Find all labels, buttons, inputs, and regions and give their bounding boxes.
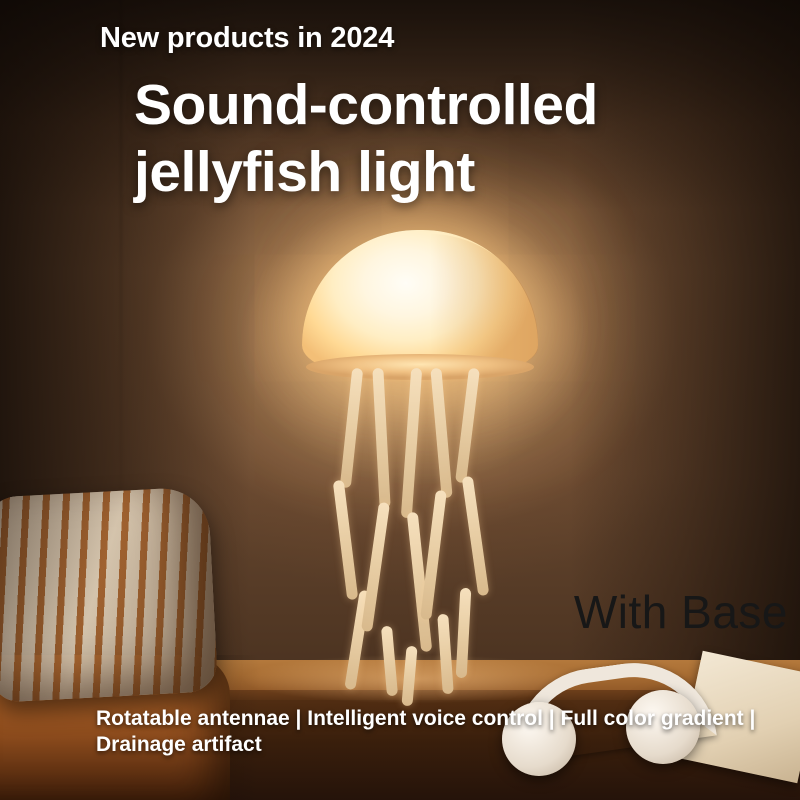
feature-list-text: Rotatable antennae | Intelligent voice c…: [96, 706, 756, 759]
with-base-badge: With Base: [574, 585, 788, 639]
page-title: Sound-controlled jellyfish light: [134, 72, 734, 205]
product-poster: New products in 2024 Sound-controlled je…: [0, 0, 800, 800]
eyebrow-text: New products in 2024: [100, 22, 394, 55]
jellyfish-lamp: [280, 218, 550, 698]
